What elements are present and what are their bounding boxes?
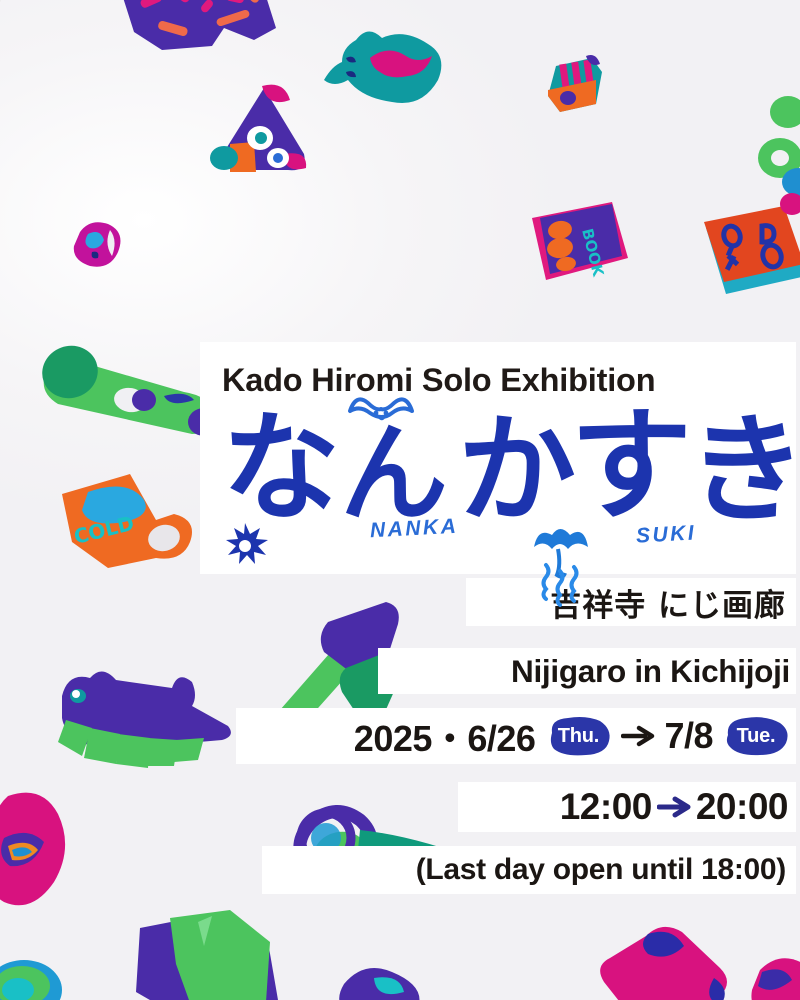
badge-start-day-label: Thu. xyxy=(558,725,599,748)
arrow-right-icon-hours xyxy=(657,795,691,819)
artwork-magenta-leaf-shape xyxy=(0,790,92,920)
hours-close: 20:00 xyxy=(696,786,788,828)
last-day-band: (Last day open until 18:00) xyxy=(262,846,796,894)
date-end: 7/8 xyxy=(664,715,713,757)
artwork-purple-book-tile: BOOK xyxy=(524,196,632,288)
japanese-title-area: な ん か す き xyxy=(200,399,796,574)
romaji-nanka: NANKA xyxy=(369,515,458,544)
venue-jp-band: 吉祥寺 にじ画廊 xyxy=(466,578,796,626)
artwork-orange-cold-block: COLD xyxy=(52,466,202,576)
bird-doodle xyxy=(346,389,416,429)
badge-start-day: Thu. xyxy=(544,715,612,757)
jp-char-ki: き xyxy=(688,411,800,529)
artwork-purple-triangle-face xyxy=(208,82,318,182)
japanese-title-lettering: な ん か す き xyxy=(218,405,784,555)
venue-en-band: Nijigaro in Kichijoji xyxy=(378,648,796,694)
jp-char-su: す xyxy=(570,405,692,527)
main-title-card: Kado Hiromi Solo Exhibition な ん か す き xyxy=(200,342,796,574)
venue-en: Nijigaro in Kichijoji xyxy=(511,653,790,690)
artwork-magenta-blue-gem xyxy=(590,920,750,1000)
artwork-striped-lantern xyxy=(540,50,610,120)
jp-char-ka: か xyxy=(458,411,576,529)
artwork-purple-confetti-shape xyxy=(104,0,284,58)
date-start: 2025・6/26 xyxy=(354,710,536,762)
artwork-magenta-pebble xyxy=(68,218,128,274)
hours-row: 12:00 20:00 xyxy=(560,786,788,828)
badge-end-day: Tue. xyxy=(722,715,790,757)
artwork-teal-green-knob xyxy=(758,92,800,222)
jp-char-na: な xyxy=(222,409,340,527)
artwork-green-purple-cube xyxy=(118,898,298,1000)
sun-doodle xyxy=(222,523,268,569)
artwork-teal-pebble xyxy=(0,950,78,1000)
last-day-note: (Last day open until 18:00) xyxy=(416,853,786,887)
artwork-green-pencil xyxy=(28,338,228,448)
badge-end-day-label: Tue. xyxy=(737,725,776,748)
hours-open: 12:00 xyxy=(560,786,652,828)
jp-char-n: ん xyxy=(340,421,448,529)
artwork-magenta-shard xyxy=(742,946,800,1000)
date-band: 2025・6/26 Thu. 7/8 Tue. xyxy=(236,708,796,764)
artwork-purple-teal-blob xyxy=(330,958,450,1000)
poster-canvas: BOOK xyxy=(0,0,800,1000)
date-row: 2025・6/26 Thu. 7/8 Tue. xyxy=(354,710,790,762)
hours-band: 12:00 20:00 xyxy=(458,782,796,832)
artwork-purple-spiked-creature xyxy=(46,662,236,782)
umbrella-rain-doodle xyxy=(530,517,592,613)
artwork-teal-magenta-fish xyxy=(312,22,452,122)
page-title: Kado Hiromi Solo Exhibition xyxy=(200,342,796,399)
arrow-right-icon xyxy=(621,724,655,748)
romaji-suki: SUKI xyxy=(635,521,696,548)
